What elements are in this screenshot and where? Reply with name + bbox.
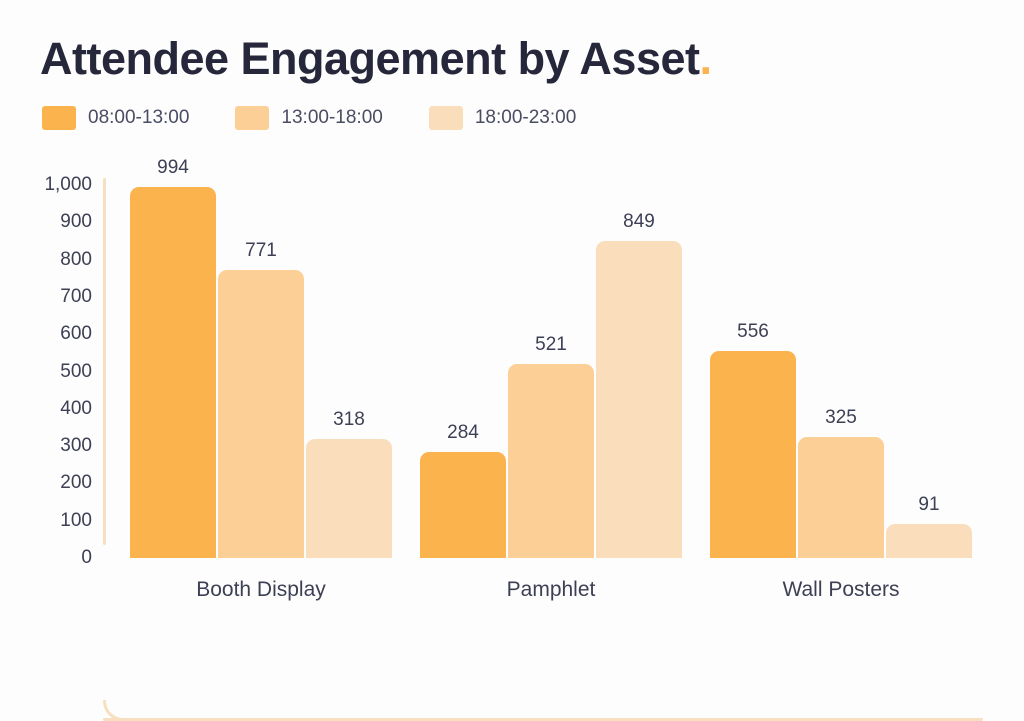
legend-item-2[interactable]: 18:00-23:00: [429, 106, 576, 130]
page-title: Attendee Engagement by Asset.: [40, 36, 712, 81]
legend-item-0[interactable]: 08:00-13:00: [42, 106, 189, 130]
bar[interactable]: [218, 270, 304, 558]
bar-value-label: 91: [918, 494, 939, 516]
legend-item-1[interactable]: 13:00-18:00: [235, 106, 382, 130]
bar[interactable]: [130, 187, 216, 558]
bar[interactable]: [886, 524, 972, 558]
plot-area: 1,0009008007006005004003002001000 994771…: [0, 160, 1024, 646]
legend-label-2: 18:00-23:00: [475, 107, 576, 129]
legend-swatch-icon-0: [42, 106, 76, 130]
x-axis-label-2: Pamphlet: [507, 578, 596, 602]
bar[interactable]: [798, 437, 884, 558]
legend-label-0: 08:00-13:00: [88, 107, 189, 129]
chart-legend: 08:00-13:00 13:00-18:00 18:00-23:00: [42, 106, 622, 130]
bar-value-label: 994: [157, 157, 189, 179]
bar-value-label: 318: [333, 409, 365, 431]
legend-swatch-icon-2: [429, 106, 463, 130]
bar-value-label: 849: [623, 211, 655, 233]
bar[interactable]: [508, 364, 594, 558]
legend-label-1: 13:00-18:00: [281, 107, 382, 129]
legend-swatch-icon-1: [235, 106, 269, 130]
bar[interactable]: [596, 241, 682, 558]
bar-value-label: 556: [737, 321, 769, 343]
bar-chart: Attendee Engagement by Asset. 08:00-13:0…: [0, 0, 1024, 646]
bar[interactable]: [420, 452, 506, 558]
bar-value-label: 771: [245, 240, 277, 262]
chart-title-text: Attendee Engagement by Asset: [40, 33, 699, 84]
bar-value-label: 325: [825, 407, 857, 429]
x-axis-label-1: Booth Display: [196, 578, 326, 602]
bars-layer: 99477131828452184955632591: [0, 160, 1024, 646]
bar-value-label: 521: [535, 334, 567, 356]
x-axis-label-3: Wall Posters: [782, 578, 899, 602]
bar-value-label: 284: [447, 422, 479, 444]
title-accent-dot: .: [699, 33, 711, 84]
bar[interactable]: [710, 351, 796, 558]
bar[interactable]: [306, 439, 392, 558]
